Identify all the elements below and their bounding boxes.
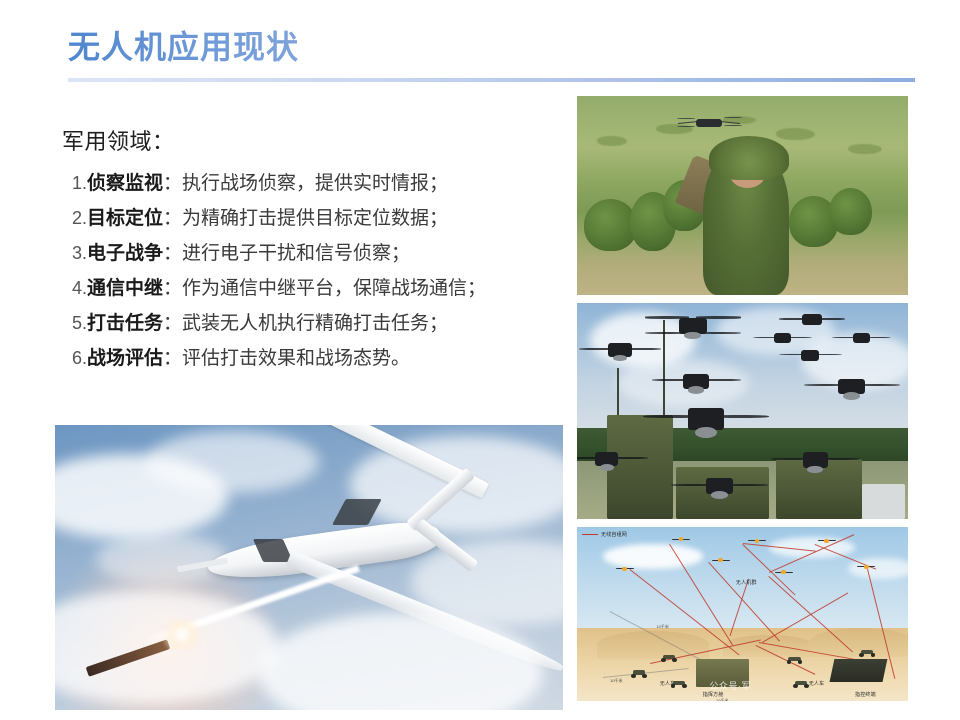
drone-arm: [722, 560, 729, 561]
ugv-wheel: [798, 660, 803, 664]
swarm-drone: [809, 372, 895, 402]
drone-body: [853, 333, 870, 343]
list-item: 3.电子战争：进行电子干扰和信号侦察；: [62, 236, 562, 271]
support-structure: [862, 484, 905, 519]
field-texture: [597, 136, 627, 146]
list-item-number: 2.: [72, 208, 87, 228]
swarm-drone: [650, 312, 736, 342]
swarm-drone: [656, 368, 735, 396]
drone-camera-gimbal: [843, 392, 860, 400]
drone-propeller: [677, 126, 695, 127]
drone-propeller: [724, 117, 742, 118]
section-heading: 军用领域：: [62, 124, 562, 156]
list-item-separator: ：: [163, 208, 182, 229]
list-item-description: 作为通信中继平台，保障战场通信；: [182, 278, 486, 299]
unmanned-ground-vehicle: [786, 656, 804, 664]
list-item: 2.目标定位：为精确打击提供目标定位数据；: [62, 201, 562, 236]
image-drone-swarm-over-military-vehicles: [577, 303, 908, 519]
list-item-description: 执行战场侦察，提供实时情报；: [182, 173, 448, 194]
ugv-wheel: [859, 653, 864, 657]
drone-arm: [785, 572, 792, 573]
network-drone-node: [673, 536, 689, 543]
network-drone-node: [819, 537, 835, 544]
network-drone-node: [713, 557, 729, 564]
cloud-shape: [146, 431, 319, 494]
network-drone-node: [776, 569, 792, 576]
drone-body: [824, 539, 828, 543]
drone-body: [774, 333, 791, 343]
foliage-shape: [829, 188, 872, 236]
ugv-wheel: [631, 674, 636, 678]
network-drone-node: [749, 537, 765, 544]
content-text-column: 军用领域： 1.侦察监视：执行战场侦察，提供实时情报； 2.目标定位：为精确打击…: [62, 124, 562, 376]
list-item-description: 评估打击效果和战场态势。: [182, 348, 410, 369]
list-item: 5.打击任务：武装无人机执行精确打击任务；: [62, 306, 562, 341]
list-item-description: 为精确打击提供目标定位数据；: [182, 208, 448, 229]
missile-launch-flare: [157, 619, 208, 650]
field-texture: [848, 144, 881, 154]
list-item-description: 武装无人机执行精确打击任务；: [182, 313, 448, 334]
drone-body: [718, 558, 722, 562]
image-watermark: 公众号·军: [709, 679, 751, 692]
distance-label: 10千米: [656, 624, 668, 630]
image-armed-uav-firing-missile: [55, 425, 563, 710]
list-item-description: 进行电子干扰和信号侦察；: [182, 243, 410, 264]
drone-propeller: [677, 118, 695, 119]
drone-camera-gimbal: [807, 466, 823, 474]
list-item: 4.通信中继：作为通信中继平台，保障战场通信；: [62, 271, 562, 306]
list-item-number: 3.: [72, 243, 87, 263]
ugv-wheel: [793, 684, 798, 688]
swarm-drone: [776, 446, 855, 476]
swarm-drone-foreground: [650, 398, 763, 441]
drone-propeller: [724, 125, 742, 126]
list-item-separator: ：: [163, 313, 182, 334]
list-item-term: 侦察监视: [87, 173, 163, 194]
unmanned-ground-vehicle: [660, 654, 678, 662]
drone-arm: [626, 568, 633, 569]
drone-body: [802, 314, 821, 325]
field-texture: [776, 128, 816, 140]
image-soldier-launching-quadcopter: [577, 96, 908, 295]
drone-body: [679, 537, 683, 541]
ugv-wheel: [787, 660, 792, 664]
list-item-separator: ：: [163, 348, 182, 369]
drone-camera-gimbal: [613, 355, 628, 362]
label-drone-swarm: 无人机群: [736, 579, 757, 586]
ugv-wheel: [682, 684, 687, 688]
cloud-shape: [96, 533, 228, 584]
list-item-number: 1.: [72, 173, 87, 193]
list-item-number: 4.: [72, 278, 87, 298]
distance-label: 10千米: [610, 678, 622, 684]
quadcopter-drone: [680, 114, 740, 132]
ugv-wheel: [871, 653, 876, 657]
drone-arm: [720, 121, 740, 124]
list-item-number: 6.: [72, 348, 87, 368]
list-item-term: 目标定位: [87, 208, 163, 229]
unmanned-ground-vehicle: [858, 649, 876, 657]
ugv-wheel: [672, 658, 677, 662]
list-item-term: 电子战争: [87, 243, 163, 264]
distance-label: 10千米: [716, 698, 728, 701]
list-item-separator: ：: [163, 173, 182, 194]
list-item-term: 战场评估: [87, 348, 163, 369]
network-drone-node: [858, 564, 874, 571]
label-control-terminal: 指控终端: [855, 691, 876, 698]
label-ugv-left: 无人车: [660, 680, 676, 687]
drone-camera-gimbal: [684, 332, 701, 340]
drone-body: [755, 539, 759, 543]
legend-line-swatch: [582, 534, 598, 535]
drone-body: [622, 567, 626, 571]
swarm-drone: [577, 446, 643, 474]
drone-camera-gimbal: [695, 427, 718, 438]
foliage-shape: [584, 199, 637, 251]
list-item-separator: ：: [163, 278, 182, 299]
list-item-term: 通信中继: [87, 278, 163, 299]
legend-label: 无线自组网: [601, 531, 627, 538]
network-drone-node: [617, 565, 633, 572]
unmanned-ground-vehicle: [792, 680, 810, 688]
list-item: 1.侦察监视：执行战场侦察，提供实时情报；: [62, 166, 562, 201]
drone-camera-gimbal: [688, 386, 704, 393]
drone-body: [801, 350, 819, 360]
list-item: 6.战场评估：评估打击效果和战场态势。: [62, 341, 562, 376]
list-item-number: 5.: [72, 313, 87, 333]
drone-arm: [828, 540, 835, 541]
swarm-drone: [782, 309, 842, 331]
drone-arm: [868, 566, 875, 567]
swarm-drone: [584, 338, 657, 364]
soldier-camouflage-hood: [709, 136, 788, 180]
military-applications-list: 1.侦察监视：执行战场侦察，提供实时情报； 2.目标定位：为精确打击提供目标定位…: [62, 166, 562, 376]
swarm-drone: [676, 471, 762, 501]
swarm-drone: [782, 346, 838, 365]
control-terminal-station: [829, 659, 887, 682]
slide-root: 无人机应用现状 军用领域： 1.侦察监视：执行战场侦察，提供实时情报； 2.目标…: [0, 0, 960, 720]
unmanned-ground-vehicle: [630, 670, 648, 678]
drone-camera-gimbal: [600, 464, 615, 471]
label-ugv-right: 无人车: [809, 680, 825, 687]
drone-camera-gimbal: [711, 491, 728, 499]
swarm-drone: [835, 329, 888, 348]
drone-body: [696, 119, 722, 128]
title-divider: [68, 78, 915, 82]
ugv-wheel: [642, 674, 647, 678]
drone-body: [864, 565, 868, 569]
drone-arm: [683, 539, 690, 540]
list-item-separator: ：: [163, 243, 182, 264]
image-uav-adhoc-network-diagram: 无线自组网 无人机群 无人车 无人车 指挥方舱 指控终端 10千米 10千米 1…: [577, 527, 908, 701]
page-title: 无人机应用现状: [68, 22, 299, 68]
drone-body: [781, 570, 785, 574]
list-item-term: 打击任务: [87, 313, 163, 334]
drone-arm: [759, 540, 766, 541]
ugv-wheel: [661, 658, 666, 662]
